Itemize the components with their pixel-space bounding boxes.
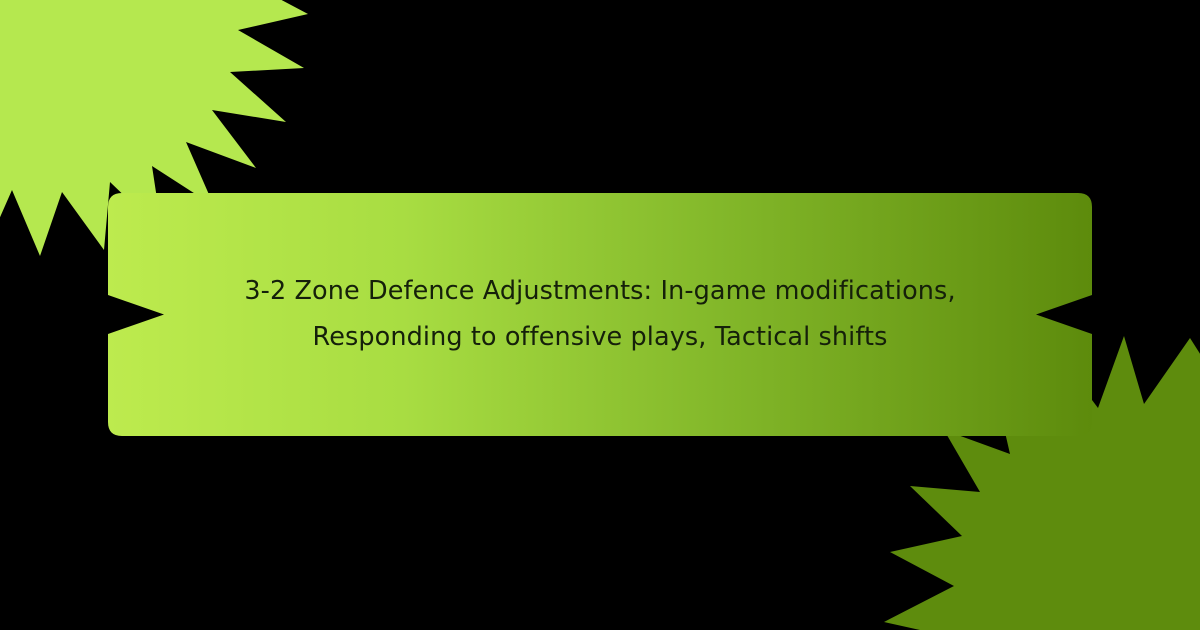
title-banner: 3-2 Zone Defence Adjustments: In-game mo… xyxy=(108,193,1092,436)
banner-text-block: 3-2 Zone Defence Adjustments: In-game mo… xyxy=(218,193,982,436)
banner-title-line-2: Responding to offensive plays, Tactical … xyxy=(313,317,888,358)
banner-card-canvas: 3-2 Zone Defence Adjustments: In-game mo… xyxy=(0,0,1200,630)
banner-title-line-1: 3-2 Zone Defence Adjustments: In-game mo… xyxy=(244,271,955,312)
